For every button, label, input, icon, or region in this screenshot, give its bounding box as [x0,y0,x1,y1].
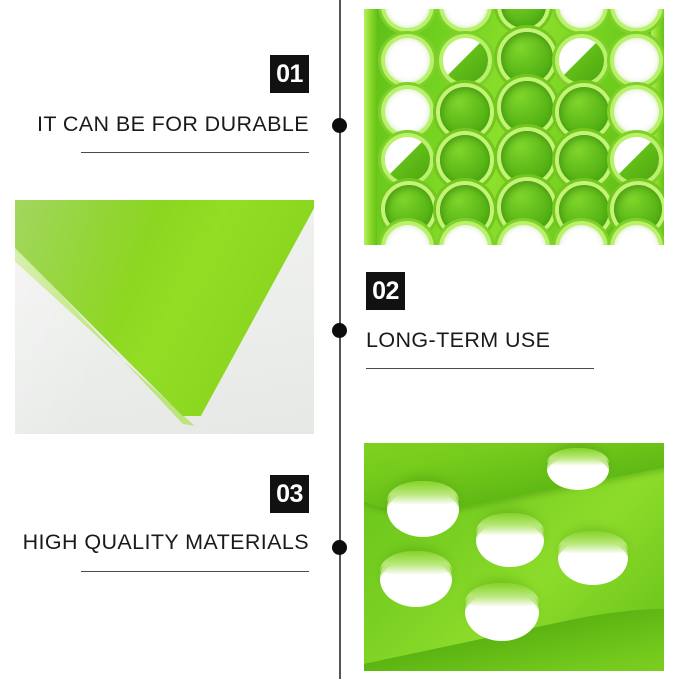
feature-title-2: LONG-TERM USE [366,328,550,353]
rack-rim-left [364,9,377,245]
feature-number-badge-1: 01 [270,55,309,93]
rack-hole [385,38,430,83]
feature-underline-2 [366,368,594,369]
feature-number-badge-2: 02 [366,272,405,310]
feature-block-3: 03 HIGH QUALITY MATERIALS [0,465,320,605]
rack-hole [501,32,553,84]
product-photo-rack-closeup [364,443,664,671]
rack-hole [385,137,430,182]
feature-number-badge-3: 03 [270,475,309,513]
feature-underline-1 [81,152,309,153]
infographic-canvas: 01 IT CAN BE FOR DURABLE 02 LONG-TERM US… [0,0,679,679]
rack-hole [440,135,490,185]
divider-dot-1 [332,118,347,133]
rack-hole [614,38,659,83]
divider-dot-2 [332,323,347,338]
product-photo-rack-grid [364,9,664,245]
rack-closeup-hole [465,583,539,641]
divider-dot-3 [332,540,347,555]
feature-title-3: HIGH QUALITY MATERIALS [23,530,309,555]
product-photo-green-corner [15,200,314,434]
rack-closeup-hole [547,448,609,490]
rack-hole [501,81,553,133]
rack-hole [440,87,490,137]
rack-hole [614,89,659,134]
rack-closeup-hole [476,513,544,567]
rack-hole [559,87,609,137]
rack-hole [443,38,488,83]
rack-hole [559,135,609,185]
rack-hole [559,38,604,83]
rack-hole [501,131,553,183]
rack-hole [385,89,430,134]
feature-block-1: 01 IT CAN BE FOR DURABLE [0,0,320,170]
feature-title-1: IT CAN BE FOR DURABLE [37,112,309,137]
rack-closeup-hole [387,481,459,537]
plastic-sheet-surface [15,200,314,416]
rack-closeup-hole [380,551,452,607]
feature-block-2: 02 LONG-TERM USE [360,260,679,370]
rack-closeup-hole [558,531,628,585]
rack-hole [614,137,659,182]
vertical-divider-line [339,0,341,679]
feature-underline-3 [81,571,309,572]
